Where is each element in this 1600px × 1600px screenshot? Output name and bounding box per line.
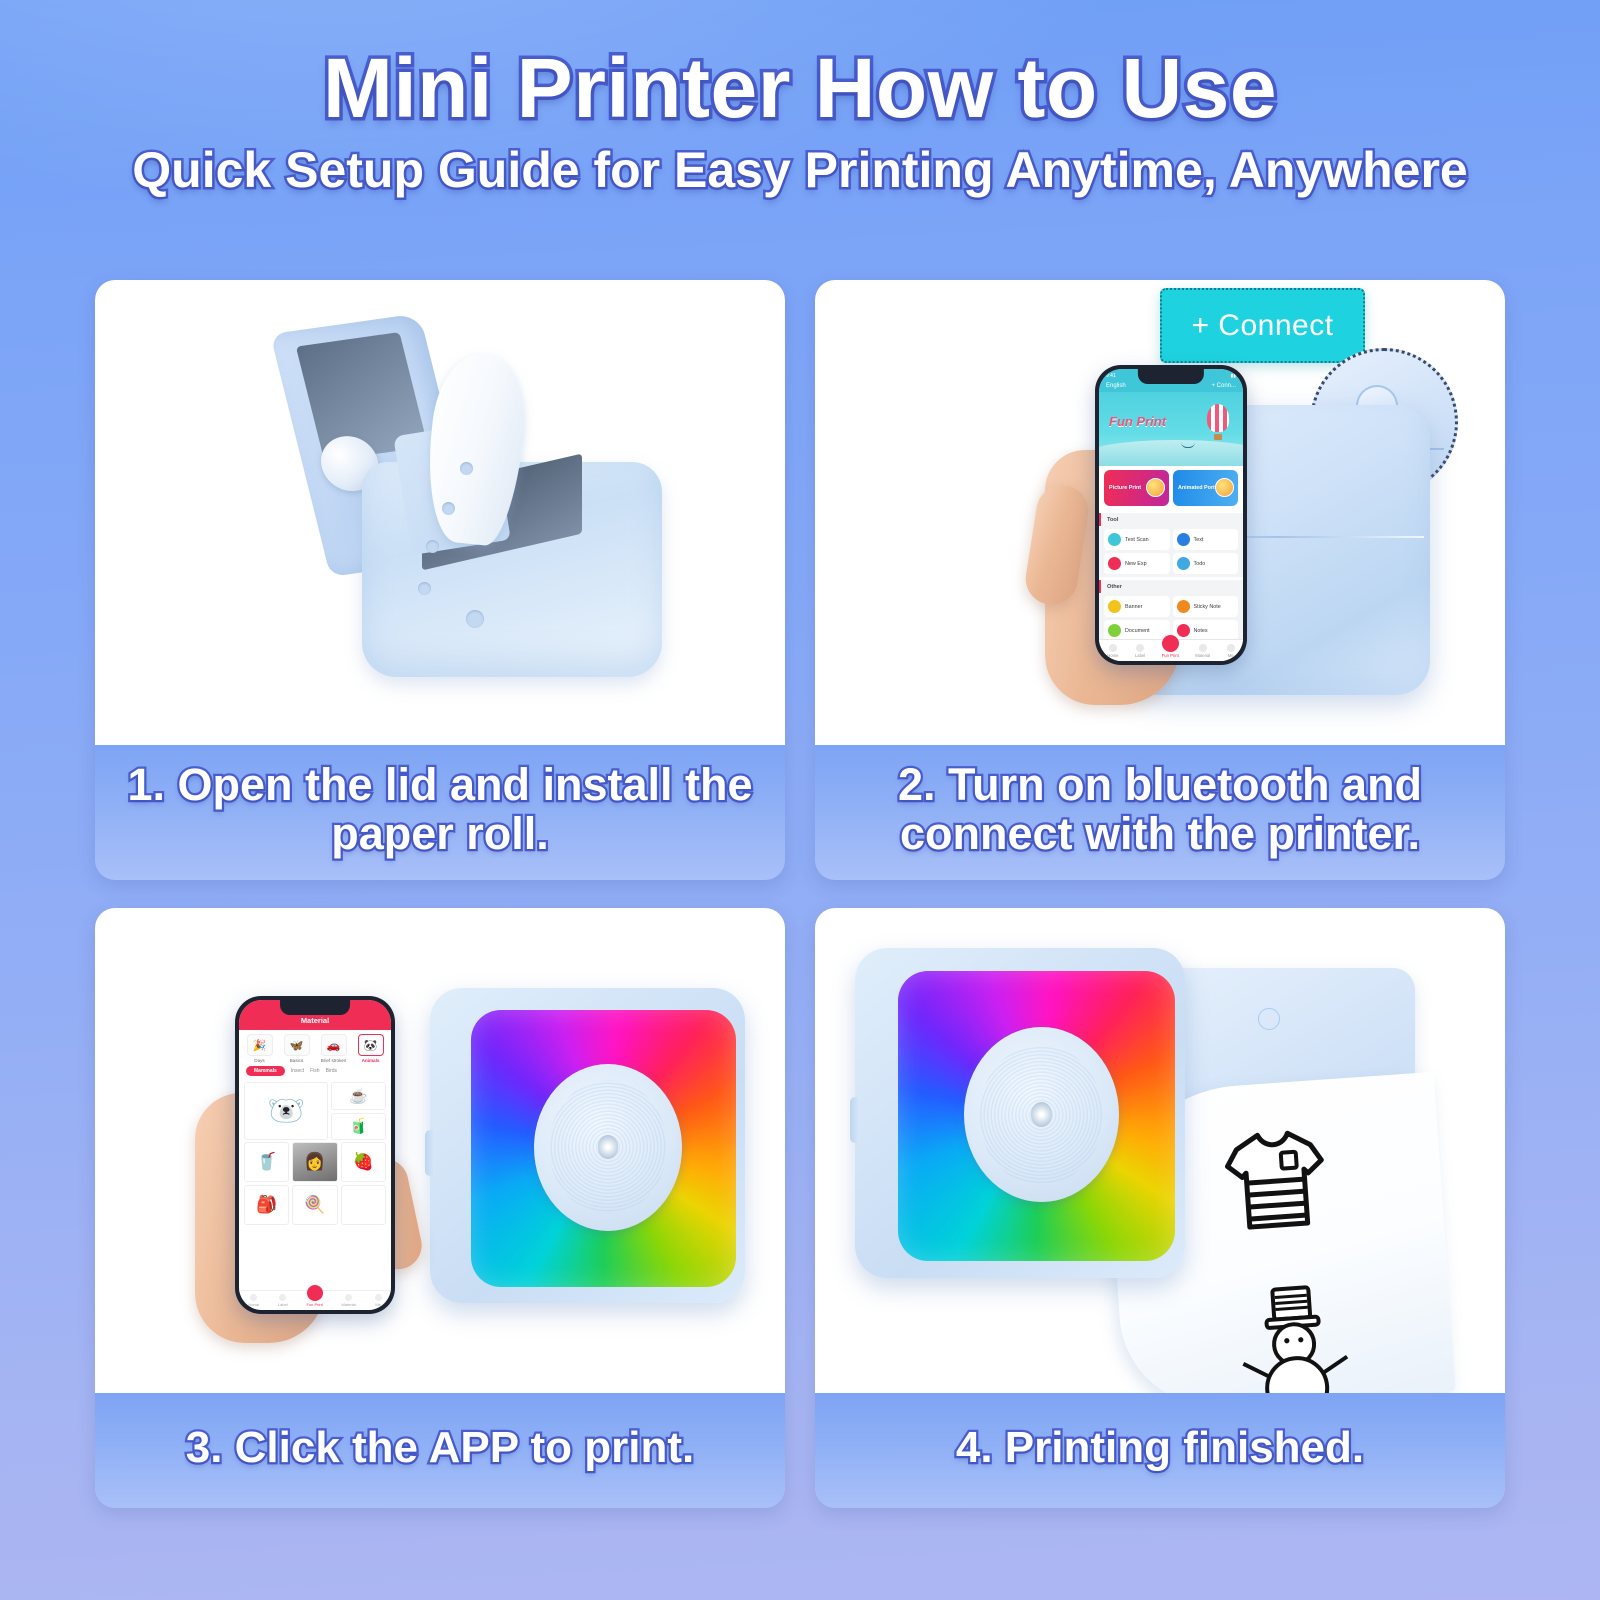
- subtab-birds[interactable]: Birds: [326, 1068, 337, 1076]
- other-item-sticky-note[interactable]: Sticky Note: [1173, 596, 1239, 617]
- basics-icon: 🦋: [284, 1034, 310, 1056]
- category-tab-brief-strokes[interactable]: 🚗 Brief strokes: [316, 1034, 351, 1063]
- connect-badge-label: + Connect: [1191, 309, 1333, 343]
- brief-strokes-icon: 🚗: [321, 1034, 347, 1056]
- step-1-caption-text: 1. Open the lid and install the paper ro…: [109, 761, 771, 858]
- new-exp-icon: [1108, 557, 1121, 570]
- mini-printer-open-illustration: [290, 310, 670, 710]
- material-tile-grid-row3: 🎒 🍭: [239, 1182, 391, 1228]
- subtab-insect[interactable]: Insect: [291, 1068, 304, 1076]
- printer-side-button[interactable]: [425, 1130, 435, 1176]
- days-icon: 🎉: [247, 1034, 273, 1056]
- nav-item-me[interactable]: Me: [1227, 644, 1235, 659]
- printer-hinge-icon: [426, 540, 439, 553]
- page-title: Mini Printer How to Use: [0, 44, 1600, 133]
- home-icon: [250, 1294, 257, 1301]
- material-tile[interactable]: [341, 1185, 386, 1225]
- tool-item-new-exp[interactable]: New Exp: [1104, 553, 1170, 574]
- tool-item-label: Text Scan: [1125, 537, 1149, 543]
- todo-icon: [1177, 557, 1190, 570]
- tool-items-grid: Text Scan Text New Exp Todo: [1099, 526, 1243, 577]
- card-thumbnail-icon: [1146, 478, 1165, 497]
- page-header: Mini Printer How to Use Quick Setup Guid…: [0, 0, 1600, 198]
- rainbow-mini-printer: [430, 988, 745, 1303]
- material-tile[interactable]: 🥤: [244, 1142, 289, 1182]
- phone-device: 9:41▮▮ English + Conn... Fun Print: [1095, 365, 1247, 665]
- nav-item-material[interactable]: Material: [1195, 644, 1210, 659]
- step-3-caption-text: 3. Click the APP to print.: [186, 1424, 695, 1472]
- step-4-caption-bar: 4. Printing finished.: [815, 1393, 1505, 1508]
- material-tile-grid-row2: 🥤 👩 🍓: [239, 1142, 391, 1182]
- step-2-image: + Connect 9:41: [815, 280, 1505, 745]
- step-4-image: [815, 908, 1505, 1393]
- steps-grid: 1. Open the lid and install the paper ro…: [95, 280, 1505, 1508]
- material-subcategory-tabs: Mammals Insect Fish Birds: [239, 1065, 391, 1080]
- nav-item-label[interactable]: Label: [278, 1294, 288, 1308]
- me-icon: [1227, 644, 1235, 652]
- fun-print-icon: [307, 1285, 323, 1301]
- material-tile[interactable]: 🎒: [244, 1185, 289, 1225]
- nav-item-fun-print[interactable]: Fun Print: [307, 1291, 323, 1308]
- card-thumbnail-icon: [1215, 478, 1234, 497]
- step-3-image: Material 🎉 Days 🦋 Basics 🚗 Brief str: [95, 908, 785, 1393]
- printer-center-hub: [964, 1027, 1119, 1202]
- category-tab-basics[interactable]: 🦋 Basics: [279, 1034, 314, 1063]
- subtab-mammals[interactable]: Mammals: [246, 1066, 285, 1076]
- other-item-document[interactable]: Document: [1104, 620, 1170, 641]
- app-feature-cards: Picture Print Animated Portrait: [1099, 466, 1243, 510]
- category-tab-days[interactable]: 🎉 Days: [242, 1034, 277, 1063]
- document-icon: [1108, 624, 1121, 637]
- sticky-note-icon: [1177, 600, 1190, 613]
- tshirt-print-icon: [1195, 1116, 1353, 1246]
- bicycle-icon: [1181, 438, 1195, 448]
- hot-air-balloon-icon: [1207, 404, 1229, 432]
- me-icon: [375, 1294, 382, 1301]
- text-icon: [1177, 533, 1190, 546]
- material-tile[interactable]: 🍭: [292, 1185, 337, 1225]
- rainbow-mini-printer: [855, 948, 1185, 1278]
- phone-notch: [280, 1000, 350, 1015]
- phone-device: Material 🎉 Days 🦋 Basics 🚗 Brief str: [235, 996, 395, 1314]
- other-item-notes[interactable]: Notes: [1173, 620, 1239, 641]
- printer-hinge-icon: [460, 462, 473, 475]
- nav-item-label[interactable]: Label: [1135, 644, 1145, 659]
- label-icon: [1136, 644, 1144, 652]
- hero-hill-shape: [1099, 440, 1243, 466]
- other-item-banner[interactable]: Banner: [1104, 596, 1170, 617]
- printer-hinge-icon: [418, 582, 431, 595]
- nav-item-fun-print[interactable]: Fun Print: [1162, 642, 1179, 659]
- home-icon: [1109, 644, 1117, 652]
- material-tile-grid-row1: 🐻‍❄️ ☕ 🧃: [239, 1080, 391, 1142]
- step-1-caption-bar: 1. Open the lid and install the paper ro…: [95, 745, 785, 880]
- nav-item-material[interactable]: Material: [342, 1294, 356, 1308]
- step-3-caption-bar: 3. Click the APP to print.: [95, 1393, 785, 1508]
- subtab-fish[interactable]: Fish: [310, 1068, 319, 1076]
- connect-badge[interactable]: + Connect: [1160, 288, 1365, 363]
- feature-card-label: Picture Print: [1109, 485, 1141, 492]
- connect-link[interactable]: + Conn...: [1211, 383, 1236, 389]
- printer-side-button[interactable]: [850, 1097, 860, 1143]
- material-tile-photo[interactable]: 👩: [292, 1142, 337, 1182]
- step-panel-2: + Connect 9:41: [815, 280, 1505, 880]
- feature-card-animated-portrait[interactable]: Animated Portrait: [1173, 470, 1238, 506]
- notes-rocket-icon: [1177, 624, 1190, 637]
- material-tile[interactable]: 🐻‍❄️: [244, 1082, 328, 1140]
- step-panel-3: Material 🎉 Days 🦋 Basics 🚗 Brief str: [95, 908, 785, 1508]
- nav-item-me[interactable]: Me: [375, 1294, 382, 1308]
- app-hero-banner: Fun Print: [1099, 392, 1243, 466]
- other-item-label: Notes: [1194, 628, 1208, 634]
- step-panel-1: 1. Open the lid and install the paper ro…: [95, 280, 785, 880]
- tool-item-text[interactable]: Text: [1173, 529, 1239, 550]
- material-icon: [345, 1294, 352, 1301]
- nav-item-home[interactable]: Home: [248, 1294, 259, 1308]
- tool-item-label: Todo: [1194, 561, 1206, 567]
- other-item-label: Sticky Note: [1194, 604, 1221, 610]
- tool-item-todo[interactable]: Todo: [1173, 553, 1239, 574]
- material-tile[interactable]: ☕: [331, 1082, 386, 1110]
- phone-screen[interactable]: 9:41▮▮ English + Conn... Fun Print: [1099, 369, 1243, 661]
- app-brand-logo: Fun Print: [1109, 414, 1166, 429]
- language-selector[interactable]: English: [1106, 383, 1126, 389]
- material-tile[interactable]: 🍓: [341, 1142, 386, 1182]
- snowman-print-icon: [1230, 1278, 1359, 1393]
- feature-card-picture-print[interactable]: Picture Print: [1104, 470, 1169, 506]
- phone-notch: [1138, 369, 1204, 384]
- step-panel-4: 4. Printing finished.: [815, 908, 1505, 1508]
- section-header-tool: Tool: [1099, 513, 1243, 526]
- step-2-caption-text: 2. Turn on bluetooth and connect with th…: [829, 761, 1491, 858]
- nav-item-home[interactable]: Home: [1107, 644, 1118, 659]
- text-scan-icon: [1108, 533, 1121, 546]
- printer-hinge-icon: [442, 502, 455, 515]
- label-icon: [279, 1294, 286, 1301]
- lid-button-icon[interactable]: [1258, 1008, 1280, 1030]
- app-bottom-nav: Home Label Fun Print Material: [239, 1290, 391, 1310]
- material-tile[interactable]: 🧃: [331, 1113, 386, 1141]
- tool-item-label: Text: [1194, 537, 1204, 543]
- printer-center-hub: [534, 1064, 682, 1231]
- material-icon: [1199, 644, 1207, 652]
- app-bottom-nav: Home Label Fun Print Material: [1099, 639, 1243, 661]
- step-2-caption-bar: 2. Turn on bluetooth and connect with th…: [815, 745, 1505, 880]
- other-item-label: Banner: [1125, 604, 1142, 610]
- material-category-tabs: 🎉 Days 🦋 Basics 🚗 Brief strokes 🐼: [239, 1030, 391, 1065]
- page-subtitle: Quick Setup Guide for Easy Printing Anyt…: [0, 143, 1600, 198]
- banner-icon: [1108, 600, 1121, 613]
- tool-item-text-scan[interactable]: Text Scan: [1104, 529, 1170, 550]
- tool-item-label: New Exp: [1125, 561, 1147, 567]
- step-1-image: [95, 280, 785, 745]
- other-item-label: Document: [1125, 628, 1150, 634]
- fun-print-icon: [1162, 635, 1179, 652]
- category-tab-animals[interactable]: 🐼 Animals: [353, 1034, 388, 1063]
- step-4-caption-text: 4. Printing finished.: [956, 1424, 1364, 1472]
- phone-screen[interactable]: Material 🎉 Days 🦋 Basics 🚗 Brief str: [239, 1000, 391, 1310]
- animals-icon: 🐼: [358, 1034, 384, 1056]
- printer-foot-icon: [466, 610, 484, 628]
- section-header-other: Other: [1099, 580, 1243, 593]
